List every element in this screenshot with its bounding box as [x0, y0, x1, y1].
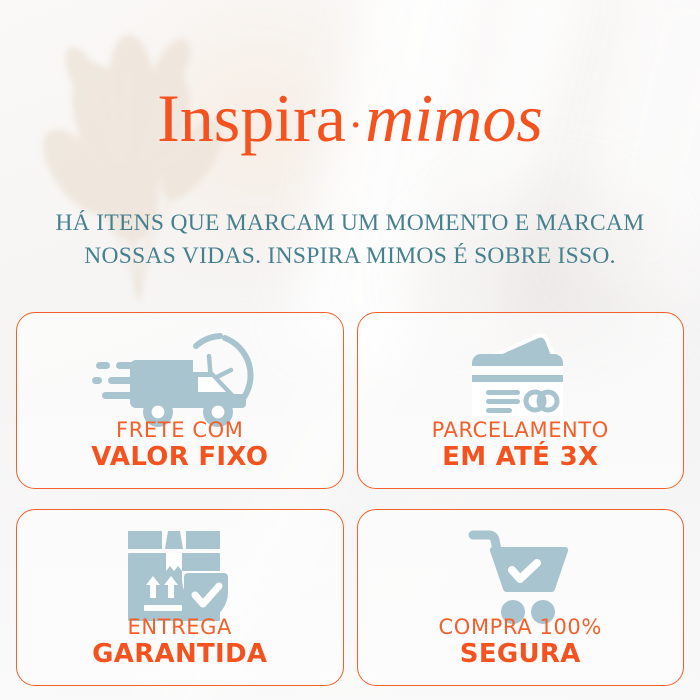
shopping-cart-check-icon [467, 524, 573, 629]
benefit-line-1: FRETE COM [17, 419, 343, 443]
benefit-line-2: GARANTIDA [17, 640, 343, 669]
logo-secondary-text: mimos [365, 80, 543, 156]
tagline: HÁ ITENS QUE MARCAM UM MOMENTO E MARCAM … [50, 207, 650, 274]
benefit-card-frete-text: FRETE COM VALOR FIXO [17, 419, 343, 472]
credit-card-icon [460, 327, 580, 432]
promo-banner: Inspira·mimos HÁ ITENS QUE MARCAM UM MOM… [0, 0, 700, 700]
benefit-line-1: ENTREGA [17, 616, 343, 640]
benefit-line-1: COMPRA 100% [358, 616, 684, 640]
benefit-card-seguranca-text: COMPRA 100% SEGURA [358, 616, 684, 669]
benefit-card-entrega-text: ENTREGA GARANTIDA [17, 616, 343, 669]
tagline-line-1: HÁ ITENS QUE MARCAM UM MOMENTO E MARCAM [50, 207, 650, 240]
benefit-line-2: VALOR FIXO [17, 443, 343, 472]
benefit-line-2: SEGURA [358, 640, 684, 669]
benefit-card-entrega[interactable]: ENTREGA GARANTIDA [16, 509, 344, 686]
logo-separator-dot: · [346, 99, 365, 150]
package-shield-check-icon [122, 524, 238, 629]
benefit-card-frete[interactable]: FRETE COM VALOR FIXO [16, 312, 344, 489]
tagline-line-2: NOSSAS VIDAS. INSPIRA MIMOS É SOBRE ISSO… [50, 240, 650, 273]
benefit-card-parcelamento[interactable]: PARCELAMENTO EM ATÉ 3X [357, 312, 685, 489]
logo-primary-text: Inspira [157, 80, 346, 156]
benefit-card-parcelamento-text: PARCELAMENTO EM ATÉ 3X [358, 419, 684, 472]
brand-logo: Inspira·mimos [0, 84, 700, 152]
benefit-line-1: PARCELAMENTO [358, 419, 684, 443]
benefit-card-seguranca[interactable]: COMPRA 100% SEGURA [357, 509, 685, 686]
benefit-line-2: EM ATÉ 3X [358, 443, 684, 472]
delivery-truck-clock-icon [92, 327, 268, 432]
benefits-grid: FRETE COM VALOR FIXO [16, 312, 684, 686]
